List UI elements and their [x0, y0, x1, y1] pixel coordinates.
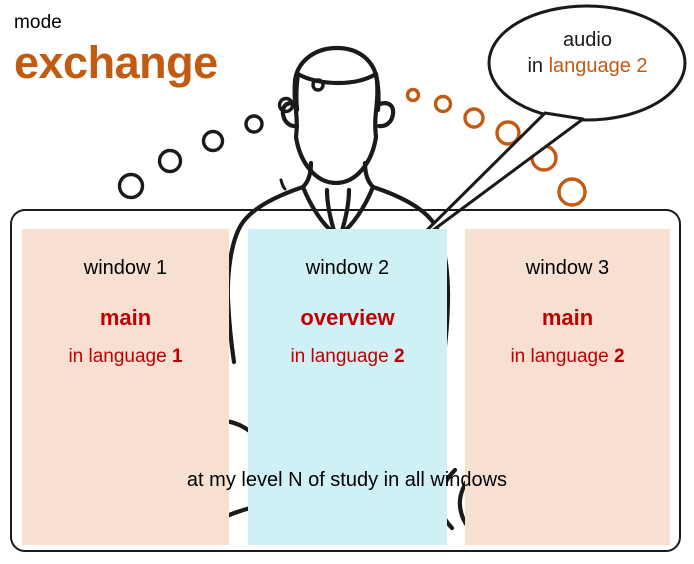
- window-1-language: in language 1: [22, 346, 229, 368]
- window-1-language-number: 1: [172, 346, 183, 367]
- speech-bubble-line-1: audio: [495, 27, 680, 53]
- thought-bubbles-right: [408, 90, 586, 206]
- window-panel-2[interactable]: window 2 overview in language 2: [248, 229, 447, 545]
- bubble-black-2: [160, 151, 181, 172]
- window-panel-1[interactable]: window 1 main in language 1: [22, 229, 229, 545]
- window-3-language-prefix: in language: [510, 346, 614, 367]
- bubble-black-3: [204, 132, 223, 151]
- speech-bubble-line-2: in language 2: [495, 53, 680, 79]
- window-1-language-prefix: in language: [68, 346, 172, 367]
- speech-bubble-text: audio in language 2: [495, 27, 680, 79]
- window-3-language: in language 2: [465, 346, 670, 368]
- speech-bubble-line-2-prefix: in: [527, 55, 548, 77]
- bubble-black-5: [280, 99, 293, 112]
- window-2-mode: overview: [248, 305, 447, 331]
- bubble-orange-1: [408, 90, 419, 101]
- window-1-mode: main: [22, 305, 229, 331]
- footer-note: at my level N of study in all windows: [10, 469, 684, 492]
- bubble-black-6: [313, 80, 323, 90]
- bubble-orange-4: [497, 122, 519, 144]
- thought-bubbles-left: [120, 80, 324, 198]
- mode-label: mode: [14, 12, 62, 34]
- bubble-orange-2: [436, 97, 451, 112]
- speech-bubble-line-2-highlight: language 2: [549, 55, 648, 77]
- window-1-title: window 1: [22, 257, 229, 280]
- bubble-orange-6: [559, 179, 585, 205]
- window-2-title: window 2: [248, 257, 447, 280]
- window-3-language-number: 2: [614, 346, 625, 367]
- window-panel-3[interactable]: window 3 main in language 2: [465, 229, 670, 545]
- window-3-title: window 3: [465, 257, 670, 280]
- window-2-language-prefix: in language: [290, 346, 394, 367]
- bubble-orange-5: [532, 146, 556, 170]
- bubble-orange-3: [465, 109, 483, 127]
- bubble-black-1: [120, 175, 143, 198]
- window-2-language-number: 2: [394, 346, 405, 367]
- window-2-language: in language 2: [248, 346, 447, 368]
- window-3-mode: main: [465, 305, 670, 331]
- bubble-black-4: [246, 116, 262, 132]
- mode-value-heading: exchange: [14, 40, 218, 85]
